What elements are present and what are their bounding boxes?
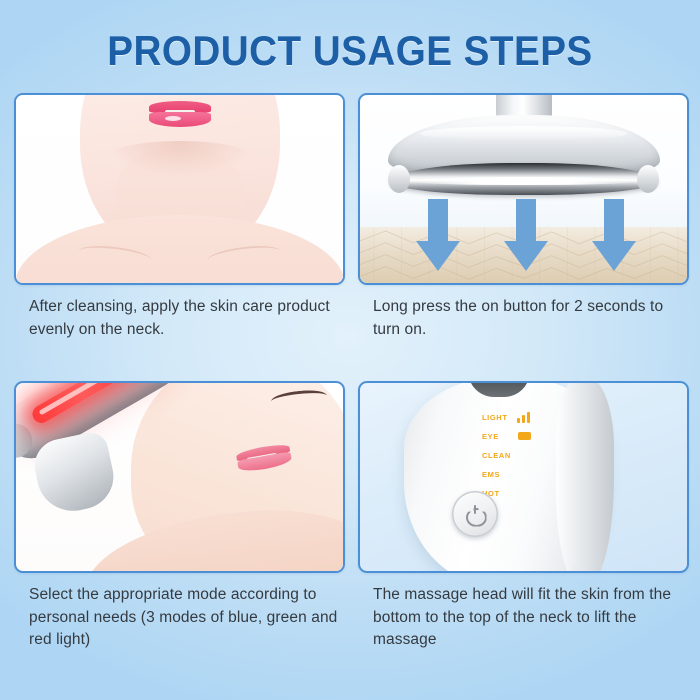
arrow-shaft (516, 199, 536, 243)
arrow-head (504, 241, 548, 271)
step-card-4: LIGHT EYE CLEAN EMS HOT (358, 381, 689, 652)
arrow-head (592, 241, 636, 271)
step-image-4: LIGHT EYE CLEAN EMS HOT (358, 381, 689, 573)
power-icon (466, 505, 485, 524)
mode-label: EYE (482, 432, 514, 441)
steps-grid: After cleansing, apply the skin care pro… (14, 93, 688, 688)
arrow-shaft (604, 199, 624, 243)
eye-indicator-icon (518, 432, 531, 440)
arrow-head (416, 241, 460, 271)
mode-label-list: LIGHT EYE CLEAN EMS HOT (482, 409, 572, 504)
mode-label: CLEAN (482, 451, 514, 460)
step-caption-2: Long press the on button for 2 seconds t… (358, 296, 689, 341)
power-icon-ring (466, 508, 487, 527)
lip-gloss-highlight (165, 116, 181, 121)
mode-row-clean: CLEAN (482, 447, 572, 463)
jaw-shadow (105, 141, 255, 175)
mode-row-ems: EMS (482, 466, 572, 482)
step-card-3: Select the appropriate mode according to… (14, 381, 345, 652)
step-card-1: After cleansing, apply the skin care pro… (14, 93, 345, 341)
power-button[interactable] (452, 491, 498, 537)
device-tip-right (637, 165, 659, 193)
step-card-2: Long press the on button for 2 seconds t… (358, 93, 689, 341)
down-arrow-icon-2 (504, 199, 548, 271)
step-caption-1: After cleansing, apply the skin care pro… (14, 296, 345, 341)
step-caption-4: The massage head will fit the skin from … (358, 584, 689, 652)
page-title: PRODUCT USAGE STEPS (28, 27, 672, 75)
power-icon-bar (474, 505, 476, 514)
down-arrow-icon-1 (416, 199, 460, 271)
mode-row-eye: EYE (482, 428, 572, 444)
step-image-2 (358, 93, 689, 285)
mode-row-hot: HOT (482, 485, 572, 501)
light-level-bars-icon (517, 412, 530, 423)
infographic-page: PRODUCT USAGE STEPS After cleansing, app (0, 0, 700, 700)
lips (149, 101, 211, 127)
down-arrow-icon-3 (592, 199, 636, 271)
mode-row-light: LIGHT (482, 409, 572, 425)
mode-label: LIGHT (482, 413, 514, 422)
step-image-1 (14, 93, 345, 285)
step-caption-3: Select the appropriate mode according to… (14, 584, 345, 652)
step-image-3 (14, 381, 345, 573)
device-contact-bar (390, 163, 658, 195)
mode-label: EMS (482, 470, 514, 479)
device-tip-left (388, 165, 410, 193)
arrow-shaft (428, 199, 448, 243)
